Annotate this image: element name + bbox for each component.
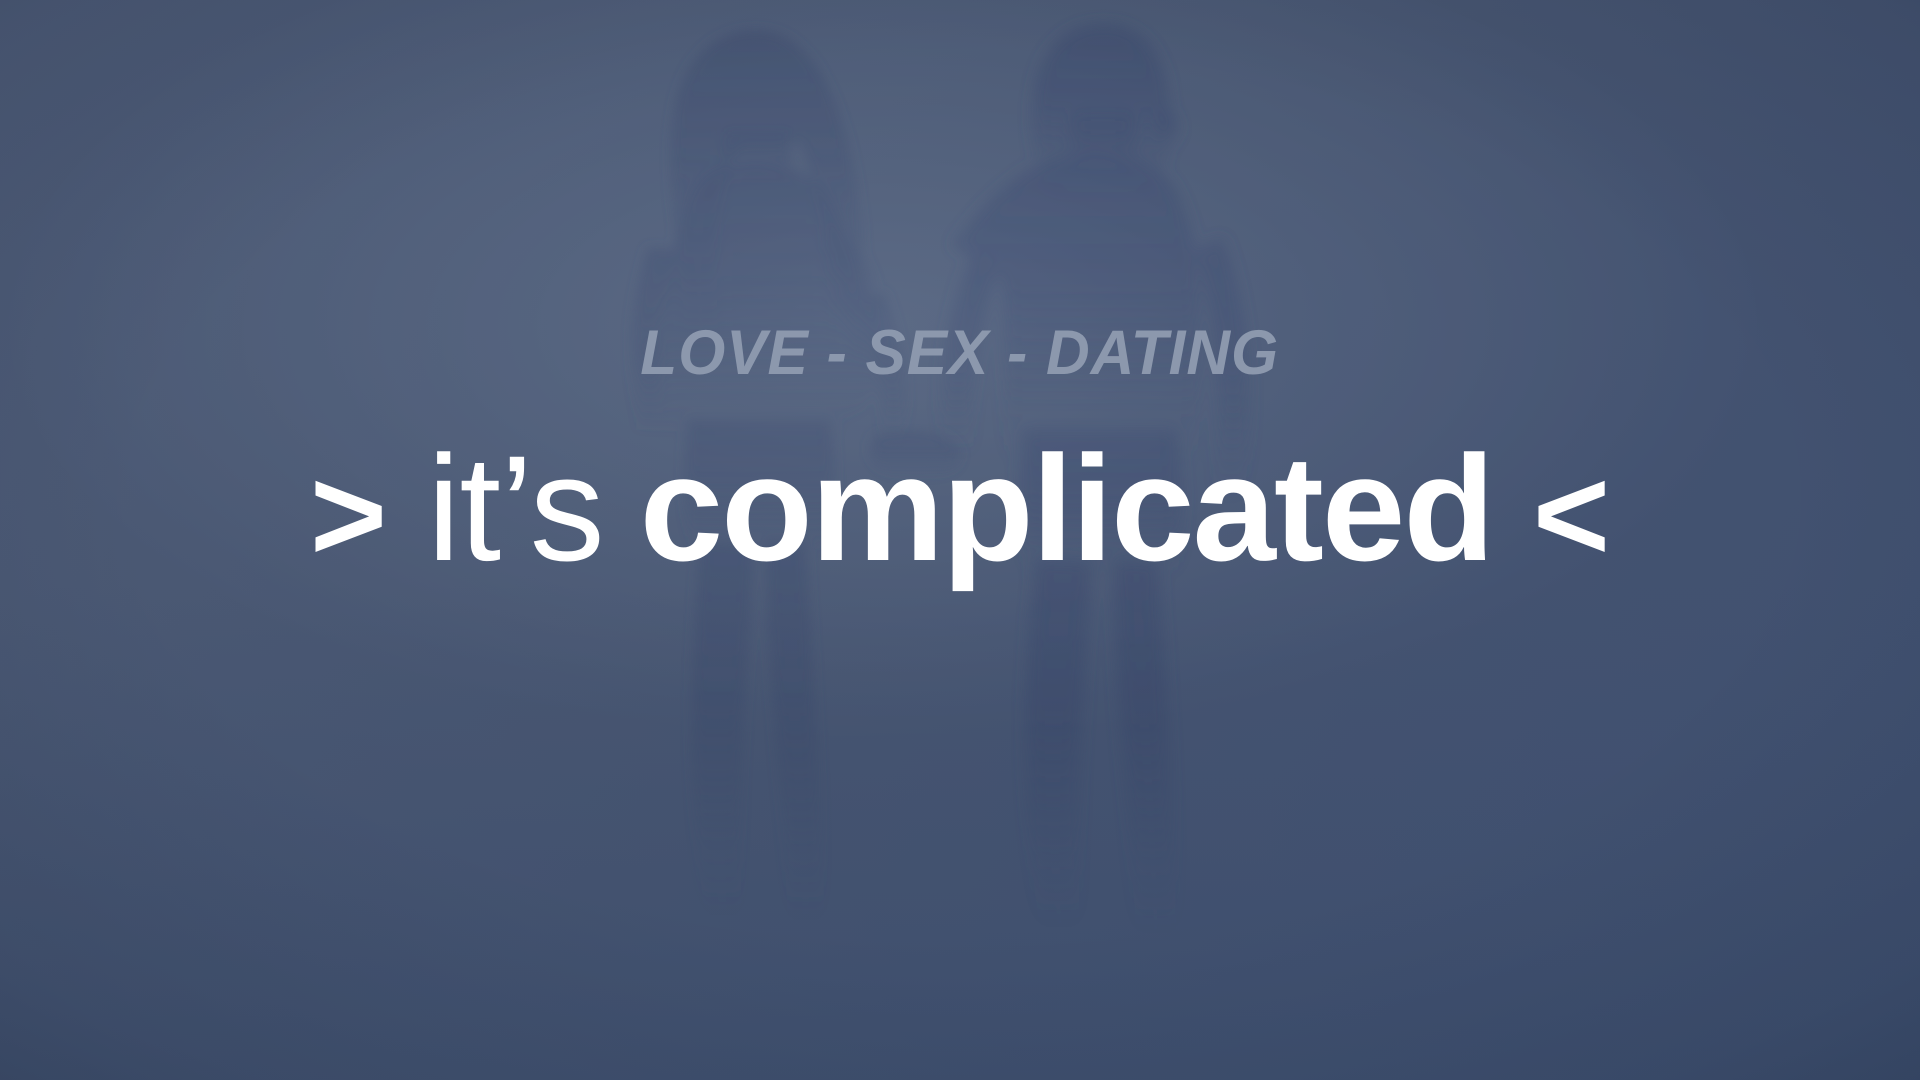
left-bracket-icon: > — [310, 449, 387, 581]
banner-content: LOVE - SEX - DATING > it’s complicated < — [0, 0, 1920, 1080]
tagline: LOVE - SEX - DATING — [641, 322, 1280, 385]
right-bracket-icon: < — [1533, 449, 1610, 581]
headline-word-complicated: complicated — [640, 433, 1493, 583]
headline-word-its: it’s — [427, 433, 604, 583]
banner-canvas: LOVE - SEX - DATING > it’s complicated < — [0, 0, 1920, 1080]
headline: > it’s complicated < — [310, 433, 1610, 583]
